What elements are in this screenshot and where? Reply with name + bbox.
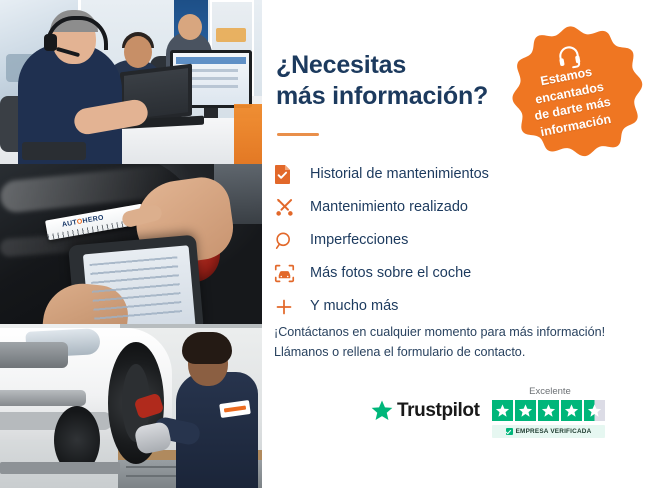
orange-equipment bbox=[234, 104, 262, 164]
page-title-line1: ¿Necesitas bbox=[276, 50, 506, 81]
verified-company-badge: EMPRESA VERIFICADA bbox=[492, 425, 605, 438]
car-grille-upper bbox=[0, 342, 68, 368]
workshop-wall-trim bbox=[120, 324, 262, 328]
page-title-line2: más información? bbox=[276, 81, 506, 112]
star-filled bbox=[561, 400, 582, 421]
feature-label: Más fotos sobre el coche bbox=[304, 266, 471, 281]
rating-label: Excelente bbox=[492, 386, 608, 400]
verified-label: EMPRESA VERIFICADA bbox=[516, 428, 592, 435]
feature-label: Mantenimiento realizado bbox=[304, 200, 468, 215]
document-check-icon-svg bbox=[274, 164, 292, 185]
photo-workshop bbox=[0, 324, 262, 488]
page-title: ¿Necesitas más información? bbox=[276, 50, 506, 112]
colleague-far-head bbox=[178, 14, 202, 40]
tools-cross-icon-svg bbox=[274, 197, 295, 218]
colleague-mid-head bbox=[124, 36, 152, 68]
feature-label: Imperfecciones bbox=[304, 233, 408, 248]
agent-headset-earcup bbox=[44, 34, 57, 51]
car-grille-lower bbox=[0, 390, 86, 406]
promo-card: AUTOHERO bbox=[0, 0, 650, 488]
trustpilot-wordmark: Trustpilot bbox=[394, 400, 480, 422]
plus-icon bbox=[274, 295, 304, 319]
feature-label: Y mucho más bbox=[304, 299, 398, 314]
check-icon bbox=[506, 428, 513, 435]
plus-icon-svg bbox=[274, 297, 294, 317]
contact-line1: ¡Contáctanos en cualquier momento para m… bbox=[274, 322, 626, 342]
tablet-form-lines bbox=[90, 256, 183, 323]
document-check-icon bbox=[274, 163, 304, 187]
star-rating bbox=[492, 400, 632, 421]
contact-line2: Llámanos o rellena el formulario de cont… bbox=[274, 342, 626, 362]
trustpilot-logo[interactable]: Trustpilot bbox=[370, 399, 480, 422]
car-scan-icon bbox=[274, 262, 304, 286]
car-lift-arm bbox=[0, 462, 120, 474]
feature-item-historial: Historial de mantenimientos bbox=[274, 158, 604, 191]
photo-call-center bbox=[0, 0, 262, 164]
contact-text: ¡Contáctanos en cualquier momento para m… bbox=[274, 322, 626, 363]
magnifier-icon bbox=[274, 229, 304, 253]
promo-badge: Estamos encantados de darte más informac… bbox=[498, 22, 643, 167]
title-underline-rule bbox=[277, 133, 319, 136]
photo-column: AUTOHERO bbox=[0, 0, 262, 488]
car-scan-icon-svg bbox=[274, 263, 295, 284]
content-panel: ¿Necesitas más información? Estamos enca… bbox=[262, 0, 650, 488]
trustpilot-rating: Excelente bbox=[492, 386, 632, 438]
trustpilot-block: Trustpilot Excelente bbox=[370, 386, 632, 448]
feature-item-imperfecciones: Imperfecciones bbox=[274, 224, 604, 257]
star-filled bbox=[515, 400, 536, 421]
magnifier-icon-svg bbox=[274, 231, 294, 251]
star-half bbox=[584, 400, 605, 421]
feature-item-mas: Y mucho más bbox=[274, 290, 604, 323]
photo-inspection: AUTOHERO bbox=[0, 164, 262, 324]
mechanic-hair bbox=[182, 332, 232, 364]
star-filled bbox=[492, 400, 513, 421]
tools-cross-icon bbox=[274, 196, 304, 220]
star-filled bbox=[538, 400, 559, 421]
feature-label: Historial de mantenimientos bbox=[304, 167, 489, 182]
desk-tablet bbox=[22, 142, 86, 160]
trustpilot-star-icon bbox=[370, 399, 394, 422]
feature-list: Historial de mantenimientos Mantenimient… bbox=[274, 158, 604, 323]
feature-item-fotos: Más fotos sobre el coche bbox=[274, 257, 604, 290]
feature-item-mantenimiento: Mantenimiento realizado bbox=[274, 191, 604, 224]
